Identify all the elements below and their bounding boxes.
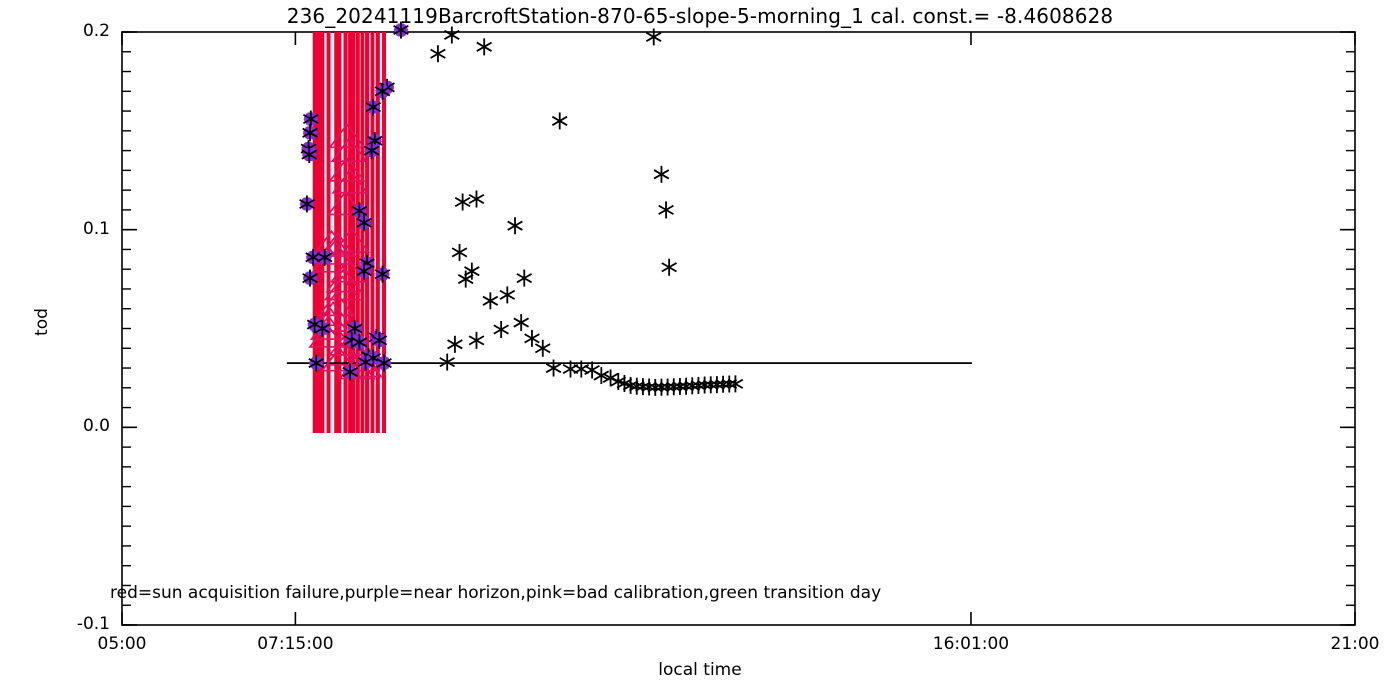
- x-tick-label: 05:00: [42, 634, 202, 654]
- x-tick-label: 07:15:00: [215, 634, 375, 654]
- y-tick-label: -0.1: [40, 614, 110, 634]
- plot-canvas: [0, 0, 1400, 700]
- x-tick-label: 21:00: [1275, 634, 1400, 654]
- y-tick-label: 0.0: [40, 416, 110, 436]
- series-normal: [431, 26, 743, 395]
- y-tick-label: 0.2: [40, 21, 110, 41]
- x-tick-label: 16:01:00: [891, 634, 1051, 654]
- scatter-plot-figure: 236_20241119BarcroftStation-870-65-slope…: [0, 0, 1400, 700]
- y-tick-label: 0.1: [40, 219, 110, 239]
